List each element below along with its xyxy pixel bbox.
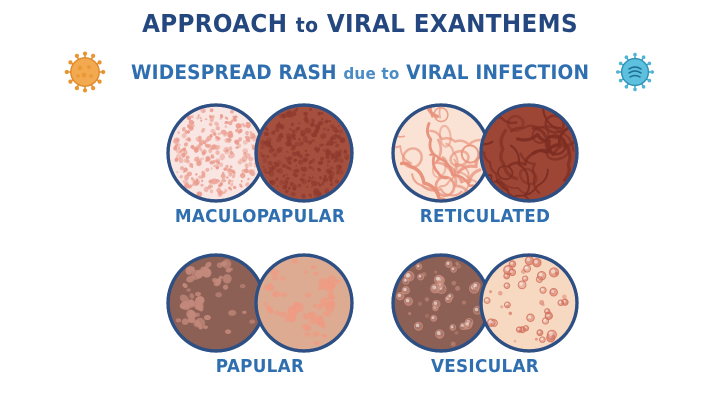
rash-type-label-maculopapular: MACULOPAPULAR	[145, 207, 375, 227]
subtitle-viral-infection: VIRAL INFECTION	[406, 61, 589, 84]
rash-type-cell-papular[interactable]: PAPULAR	[140, 250, 380, 400]
title-word-approach: APPROACH	[142, 9, 287, 38]
title-word-to: to	[296, 13, 319, 37]
subtitle-due-to: due to	[343, 64, 399, 83]
rash-type-label-papular: PAPULAR	[145, 357, 375, 377]
viral-exanthems-infographic: APPROACH to VIRAL EXANTHEMS	[0, 0, 720, 404]
virus-particle-orange-icon	[63, 50, 107, 94]
skin-circle-pair-reticulated	[385, 100, 585, 206]
skin-circle-pair-papular	[160, 250, 360, 356]
subtitle-row: WIDESPREAD RASH due to VIRAL INFECTION	[0, 50, 720, 94]
skin-circle-papular-right	[256, 255, 352, 351]
rash-type-cell-reticulated[interactable]: RETICULATED	[365, 100, 605, 250]
page-title: APPROACH to VIRAL EXANTHEMS	[22, 9, 699, 38]
skin-circle-pair-maculopapular	[160, 100, 360, 206]
subtitle-widespread-rash: WIDESPREAD RASH	[131, 61, 337, 84]
skin-circle-maculopapular-left	[168, 105, 264, 201]
rash-type-label-reticulated: RETICULATED	[370, 207, 600, 227]
header: APPROACH to VIRAL EXANTHEMS	[0, 0, 720, 96]
skin-circle-maculopapular-right	[256, 105, 352, 201]
skin-circle-papular-left	[168, 255, 264, 351]
rash-type-label-vesicular: VESICULAR	[370, 357, 600, 377]
skin-circle-pair-vesicular	[385, 250, 585, 356]
skin-circle-reticulated-left	[385, 100, 495, 206]
skin-circle-vesicular-right	[481, 255, 577, 351]
virus-particle-blue-icon	[613, 50, 657, 94]
title-word-viral-exanthems: VIRAL EXANTHEMS	[327, 9, 578, 38]
rash-type-cell-maculopapular[interactable]: MACULOPAPULAR	[140, 100, 380, 250]
rash-type-grid: MACULOPAPULARRETICULATEDPAPULARVESICULAR	[0, 100, 720, 404]
skin-circle-vesicular-left	[393, 255, 489, 351]
rash-type-cell-vesicular[interactable]: VESICULAR	[365, 250, 605, 400]
subtitle: WIDESPREAD RASH due to VIRAL INFECTION	[131, 61, 589, 84]
